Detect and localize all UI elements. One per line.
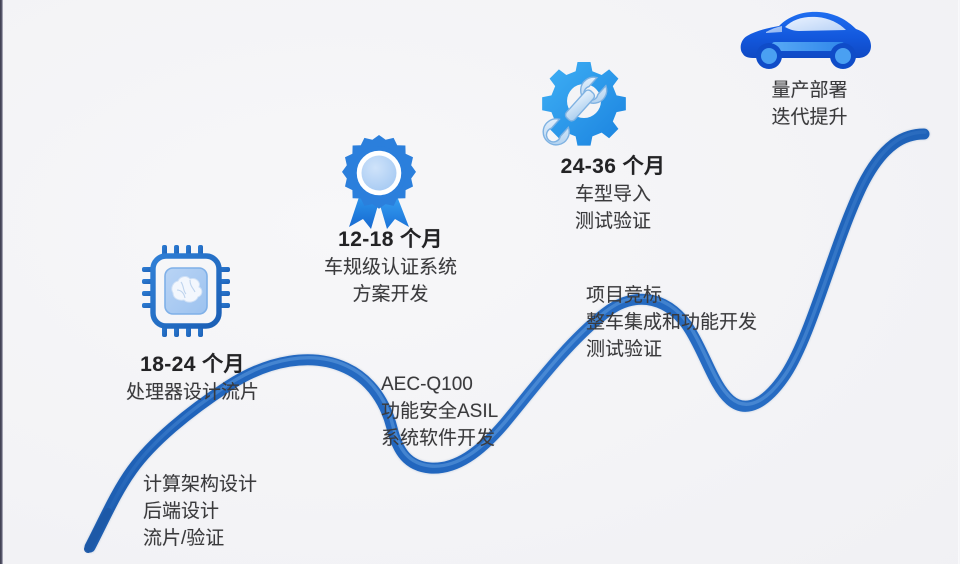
stage-2-detail-2: 功能安全ASIL [381, 399, 498, 426]
stage-2-label: 12-18 个月 车规级认证系统 方案开发 [283, 225, 498, 309]
stage-3-details: 项目竞标 整车集成和功能开发 测试验证 [586, 283, 757, 364]
stage-3-detail-2: 整车集成和功能开发 [586, 310, 757, 337]
car-icon[interactable] [735, 6, 875, 77]
stage-3-summary-2: 测试验证 [518, 209, 708, 236]
stage-4-label: 量产部署 迭代提升 [722, 78, 897, 132]
cpu-brain-icon[interactable] [140, 243, 232, 344]
stage-1-detail-3: 流片/验证 [143, 526, 257, 553]
stage-4-summary-2: 迭代提升 [722, 105, 897, 132]
left-frame-edge [0, 0, 3, 564]
roadmap-figure: 18-24 个月 处理器设计流片 计算架构设计 后端设计 流片/验证 [0, 0, 960, 564]
stage-1-duration: 18-24 个月 [100, 350, 285, 380]
medal-award-icon[interactable] [337, 133, 421, 236]
stage-2-summary-2: 方案开发 [283, 282, 498, 309]
stage-3-detail-1: 项目竞标 [586, 283, 757, 310]
stage-1-label: 18-24 个月 处理器设计流片 [100, 350, 285, 407]
stage-3-label: 24-36 个月 车型导入 测试验证 [518, 152, 708, 236]
stage-2-detail-3: 系统软件开发 [381, 426, 498, 453]
stage-3-detail-3: 测试验证 [586, 337, 757, 364]
stage-1-details: 计算架构设计 后端设计 流片/验证 [143, 472, 257, 553]
stage-1-detail-1: 计算架构设计 [143, 472, 257, 499]
stage-4-summary-1: 量产部署 [722, 78, 897, 105]
stage-2-details: AEC-Q100 功能安全ASIL 系统软件开发 [381, 372, 498, 453]
stage-3-duration: 24-36 个月 [518, 152, 708, 182]
stage-3-summary-1: 车型导入 [518, 182, 708, 209]
stage-1-summary: 处理器设计流片 [100, 380, 285, 407]
stage-2-detail-1: AEC-Q100 [381, 372, 498, 399]
stage-1-detail-2: 后端设计 [143, 499, 257, 526]
stage-2-summary-1: 车规级认证系统 [283, 255, 498, 282]
gear-wrench-icon[interactable] [540, 55, 636, 156]
stage-2-duration: 12-18 个月 [283, 225, 498, 255]
